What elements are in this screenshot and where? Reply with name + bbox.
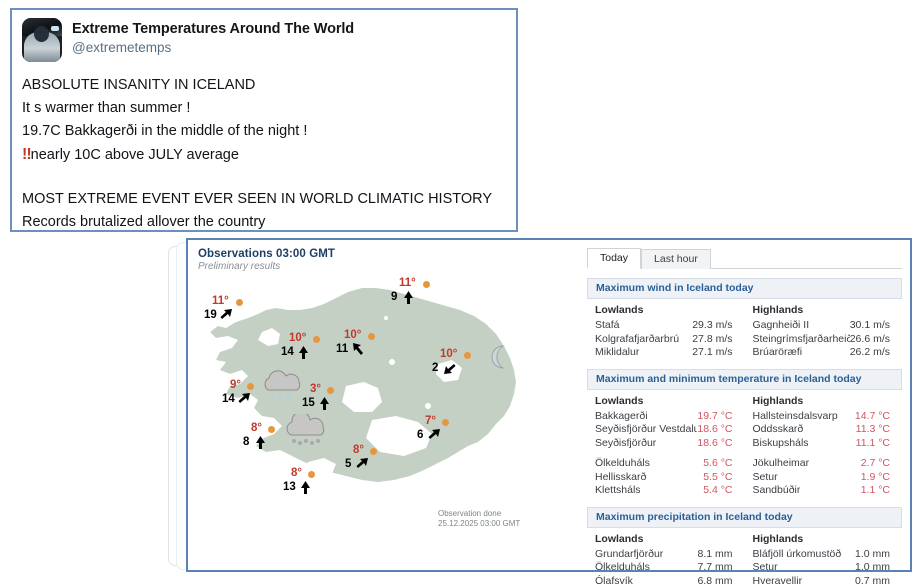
station-value: 1.1 °C <box>861 484 890 498</box>
avatar-photo-head <box>34 26 49 42</box>
map-marker-temperature: 9° <box>230 380 241 391</box>
map-marker-wind-speed: 14 <box>222 394 235 405</box>
station-name: Setur <box>753 471 778 485</box>
table-row: Hellisskarð5.5 °C <box>595 471 745 485</box>
map-marker-temperature: 8° <box>291 468 302 479</box>
station-value: 27.8 m/s <box>692 333 732 347</box>
station-value: 29.3 m/s <box>692 319 732 333</box>
map-marker-temperature: 10° <box>289 333 306 344</box>
map-marker-temperature: 10° <box>440 349 457 360</box>
map-marker-station-dot[interactable] <box>313 336 320 343</box>
station-name: Klettsháls <box>595 484 641 498</box>
double-exclamation-icon: ‼ <box>22 146 31 163</box>
table-row: Sandbúðir1.1 °C <box>753 484 903 498</box>
map-marker-station-dot[interactable] <box>236 299 243 306</box>
display-name[interactable]: Extreme Temperatures Around The World <box>72 20 354 38</box>
tweet-header: Extreme Temperatures Around The World @e… <box>22 18 506 66</box>
station-name: Setur <box>753 561 778 575</box>
station-value: 5.4 °C <box>703 484 732 498</box>
wind-direction-arrow-icon <box>238 392 251 407</box>
table-row: Stafá29.3 m/s <box>595 319 745 333</box>
observation-done-time: 25.12.2025 03:00 GMT <box>438 519 520 529</box>
tweet-line-6: Records brutalized allover the country <box>22 211 506 234</box>
station-name: Seyðisfjörður <box>595 437 656 451</box>
station-value: 6.8 mm <box>697 575 732 588</box>
wind-lowlands-head: Lowlands <box>595 304 745 317</box>
data-pane: Today Last hour Maximum wind in Iceland … <box>580 240 910 570</box>
table-row: Setur1.0 mm <box>753 561 903 575</box>
station-name: Ólafsvík <box>595 575 633 588</box>
table-row: Hallsteinsdalsvarp14.7 °C <box>753 410 903 424</box>
map-marker-station-dot[interactable] <box>464 352 471 359</box>
station-name: Sandbúðir <box>753 484 801 498</box>
iceland-map[interactable]: 11°1911°910°1410°1110°29°143°157°68°88°5… <box>188 266 580 566</box>
station-value: 1.0 mm <box>855 548 890 562</box>
tweet-card: Extreme Temperatures Around The World @e… <box>10 8 518 232</box>
iceland-map-shape <box>196 266 566 546</box>
wind-highlands-head: Highlands <box>753 304 903 317</box>
map-marker-station-dot[interactable] <box>368 333 375 340</box>
map-marker-wind-speed: 11 <box>336 344 348 355</box>
table-row: Ölkelduháls5.6 °C <box>595 457 745 471</box>
table-row: Seyðisfjörður18.6 °C <box>595 437 745 451</box>
precipitation-tables: Lowlands Grundarfjörður8.1 mm Ölkelduhál… <box>587 533 902 588</box>
wind-lowlands-col: Lowlands Stafá29.3 m/s Kolgrafafjarðarbr… <box>587 304 745 360</box>
wind-direction-arrow-icon <box>356 457 369 472</box>
precip-highlands-col: Highlands Bláfjöll úrkomustöð1.0 mm Setu… <box>745 533 903 588</box>
map-marker-wind-speed: 5 <box>345 459 351 470</box>
map-marker-station-dot[interactable] <box>308 471 315 478</box>
tweet-author-block: Extreme Temperatures Around The World @e… <box>72 18 354 57</box>
station-name: Brúaröræfi <box>753 346 803 360</box>
table-row: Ölkelduháls7.7 mm <box>595 561 745 575</box>
map-marker-wind-speed: 2 <box>432 363 438 374</box>
station-name: Biskupsháls <box>753 437 809 451</box>
map-marker-wind-speed: 15 <box>302 398 315 409</box>
station-value: 1.9 °C <box>861 471 890 485</box>
section-header-wind: Maximum wind in Iceland today <box>587 278 902 299</box>
table-row: Jökulheimar2.7 °C <box>753 457 903 471</box>
station-value: 30.1 m/s <box>850 319 890 333</box>
tweet-line-2: It s warmer than summer ! <box>22 97 506 120</box>
tweet-body: ABSOLUTE INSANITY IN ICELAND It s warmer… <box>22 74 506 234</box>
temp-highlands-col: Highlands Hallsteinsdalsvarp14.7 °C Odds… <box>745 395 903 498</box>
table-row: Grundarfjörður8.1 mm <box>595 548 745 562</box>
tweet-alert-text: nearly 10C above JULY average <box>31 147 239 163</box>
map-marker-station-dot[interactable] <box>442 419 449 426</box>
station-value: 18.6 °C <box>697 437 732 451</box>
tweet-blank-line <box>22 167 506 188</box>
table-row: Kolgrafafjarðarbrú27.8 m/s <box>595 333 745 347</box>
station-value: 1.0 mm <box>855 561 890 575</box>
avatar-photo-highlight <box>51 26 59 31</box>
wind-direction-arrow-icon <box>299 480 312 495</box>
map-marker-station-dot[interactable] <box>327 387 334 394</box>
row-gap <box>753 450 903 457</box>
table-row: Ólafsvík6.8 mm <box>595 575 745 588</box>
tab-bar: Today Last hour <box>587 248 902 269</box>
section-header-temperature: Maximum and minimum temperature in Icela… <box>587 369 902 390</box>
table-row: Oddsskarð11.3 °C <box>753 423 903 437</box>
station-value: 11.3 °C <box>856 423 890 437</box>
temperature-tables: Lowlands Bakkagerði19.7 °C Seyðisfjörður… <box>587 395 902 498</box>
moon-icon <box>485 344 511 370</box>
map-marker-temperature: 8° <box>251 423 262 434</box>
tweet-line-1: ABSOLUTE INSANITY IN ICELAND <box>22 74 506 97</box>
handle[interactable]: @extremetemps <box>72 38 354 57</box>
table-row: Brúaröræfi26.2 m/s <box>753 346 903 360</box>
map-marker-wind-speed: 8 <box>243 437 249 448</box>
station-name: Hveravellir <box>753 575 803 588</box>
station-value: 14.7 °C <box>855 410 890 424</box>
station-name: Miklidalur <box>595 346 639 360</box>
table-row: Bakkagerði19.7 °C <box>595 410 745 424</box>
station-name: Grundarfjörður <box>595 548 663 562</box>
table-row: Miklidalur27.1 m/s <box>595 346 745 360</box>
station-name: Stafá <box>595 319 620 333</box>
station-name: Bláfjöll úrkomustöð <box>753 548 842 562</box>
map-marker-temperature: 8° <box>353 445 364 456</box>
station-value: 2.7 °C <box>861 457 890 471</box>
map-marker-temperature: 10° <box>344 330 361 341</box>
table-row: Bláfjöll úrkomustöð1.0 mm <box>753 548 903 562</box>
station-value: 8.1 mm <box>697 548 732 562</box>
table-row: Hveravellir0.7 mm <box>753 575 903 588</box>
observation-done-label: Observation done <box>438 509 520 519</box>
wind-direction-arrow-icon <box>220 308 233 323</box>
map-marker-wind-speed: 6 <box>417 430 423 441</box>
station-value: 7.7 mm <box>697 561 732 575</box>
wind-direction-arrow-icon <box>443 361 456 376</box>
station-name: Bakkagerði <box>595 410 648 424</box>
table-row: Klettsháls5.4 °C <box>595 484 745 498</box>
station-name: Ölkelduháls <box>595 457 650 471</box>
avatar[interactable] <box>22 18 62 62</box>
temp-lowlands-head: Lowlands <box>595 395 745 408</box>
station-value: 18.6 °C <box>697 423 732 437</box>
station-name: Hellisskarð <box>595 471 646 485</box>
station-name: Hallsteinsdalsvarp <box>753 410 838 424</box>
wind-direction-arrow-icon <box>318 396 331 411</box>
wind-direction-arrow-icon <box>402 290 415 305</box>
tweet-alert-line: ‼nearly 10C above JULY average <box>22 143 506 167</box>
station-name: Jökulheimar <box>753 457 810 471</box>
map-pane: Observations 03:00 GMT Preliminary resul… <box>188 240 580 570</box>
map-marker-temperature: 11° <box>212 296 229 307</box>
row-gap <box>595 450 745 457</box>
station-value: 5.5 °C <box>703 471 732 485</box>
tab-today[interactable]: Today <box>587 248 641 269</box>
station-name: Kolgrafafjarðarbrú <box>595 333 679 347</box>
table-row: Setur1.9 °C <box>753 471 903 485</box>
wind-direction-arrow-icon <box>352 342 365 357</box>
table-row: Steingrímsfjarðarheiði26.6 m/s <box>753 333 903 347</box>
wind-direction-arrow-icon <box>428 428 441 443</box>
tab-last-hour[interactable]: Last hour <box>641 249 711 269</box>
station-value: 19.7 °C <box>697 410 732 424</box>
table-row: Biskupsháls11.1 °C <box>753 437 903 451</box>
station-name: Oddsskarð <box>753 423 804 437</box>
temp-lowlands-col: Lowlands Bakkagerði19.7 °C Seyðisfjörður… <box>587 395 745 498</box>
wind-direction-arrow-icon <box>297 345 310 360</box>
station-value: 5.6 °C <box>703 457 732 471</box>
precip-lowlands-col: Lowlands Grundarfjörður8.1 mm Ölkelduhál… <box>587 533 745 588</box>
observation-done-stamp: Observation done 25.12.2025 03:00 GMT <box>438 509 520 529</box>
weather-widget: Observations 03:00 GMT Preliminary resul… <box>186 238 912 572</box>
map-marker-station-dot[interactable] <box>370 448 377 455</box>
temp-highlands-head: Highlands <box>753 395 903 408</box>
map-marker-temperature: 7° <box>425 416 436 427</box>
map-marker-wind-speed: 19 <box>204 310 217 321</box>
map-marker-station-dot[interactable] <box>268 426 275 433</box>
section-header-precipitation: Maximum precipitation in Iceland today <box>587 507 902 528</box>
station-name: Gagnheiði II <box>753 319 810 333</box>
observations-title: Observations 03:00 GMT <box>198 248 580 260</box>
precip-highlands-head: Highlands <box>753 533 903 546</box>
map-marker-station-dot[interactable] <box>247 383 254 390</box>
station-value: 0.7 mm <box>855 575 890 588</box>
table-row: Seyðisfjörður Vestdalur18.6 °C <box>595 423 745 437</box>
tweet-line-5: MOST EXTREME EVENT EVER SEEN IN WORLD CL… <box>22 188 506 211</box>
wind-direction-arrow-icon <box>254 435 267 450</box>
cloud-rain-icon-2 <box>280 414 332 448</box>
station-value: 26.2 m/s <box>850 346 890 360</box>
wind-highlands-col: Highlands Gagnheiði II30.1 m/s Steingrím… <box>745 304 903 360</box>
precip-lowlands-head: Lowlands <box>595 533 745 546</box>
map-marker-temperature: 11° <box>399 278 416 289</box>
map-marker-wind-speed: 14 <box>281 347 294 358</box>
station-name: Seyðisfjörður Vestdalur <box>595 423 697 437</box>
map-marker-wind-speed: 13 <box>283 482 296 493</box>
station-name: Ölkelduháls <box>595 561 650 575</box>
wind-tables: Lowlands Stafá29.3 m/s Kolgrafafjarðarbr… <box>587 304 902 360</box>
table-row: Gagnheiði II30.1 m/s <box>753 319 903 333</box>
map-marker-temperature: 3° <box>310 384 321 395</box>
map-marker-station-dot[interactable] <box>423 281 430 288</box>
cloud-rain-icon <box>258 370 308 402</box>
station-value: 27.1 m/s <box>692 346 732 360</box>
map-marker-wind-speed: 9 <box>391 292 397 303</box>
station-value: 11.1 °C <box>856 437 890 451</box>
tweet-line-3: 19.7C Bakkagerði in the middle of the ni… <box>22 120 506 143</box>
station-value: 26.6 m/s <box>850 333 890 347</box>
station-name: Steingrímsfjarðarheiði <box>753 333 850 347</box>
